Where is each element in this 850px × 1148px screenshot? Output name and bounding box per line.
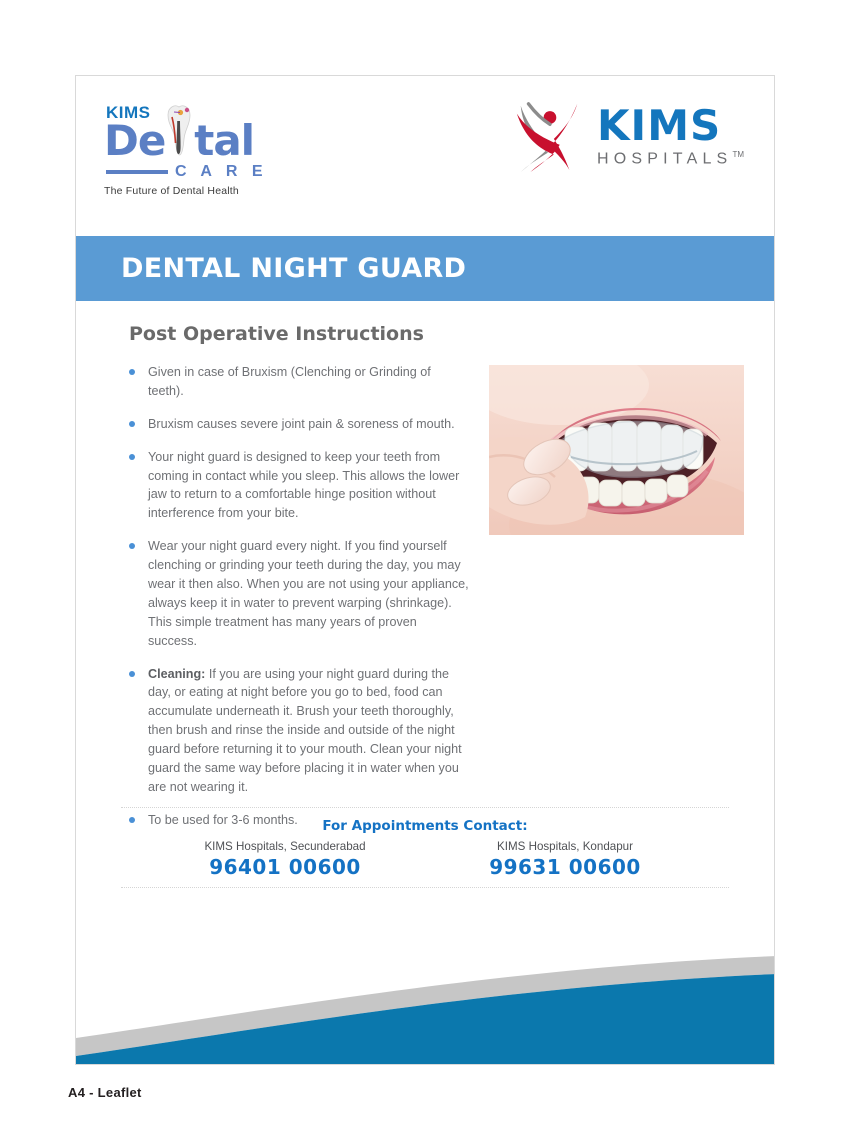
page-caption: A4 - Leaflet	[68, 1085, 142, 1100]
night-guard-photo-illustration	[489, 365, 744, 535]
dental-logo-tagline: The Future of Dental Health	[104, 185, 279, 197]
dental-logo-word-tal: tal	[194, 116, 254, 165]
contact-phone[interactable]: 96401 00600	[185, 855, 385, 879]
title-banner: DENTAL NIGHT GUARD	[76, 236, 774, 301]
list-item: Wear your night guard every night. If yo…	[121, 537, 469, 650]
dental-logo-rule	[106, 170, 168, 174]
header-band: KIMS Dental C A R E The Future of Dental…	[76, 76, 774, 236]
contact-divider-top	[121, 807, 729, 809]
contact-row: KIMS Hospitals, Secunderabad 96401 00600…	[121, 840, 729, 887]
dental-logo-word-de: De	[104, 116, 165, 165]
bottom-wave-graphic	[76, 934, 775, 1064]
list-item: Cleaning: If you are using your night gu…	[121, 665, 469, 797]
dental-logo-wordmark: Dental	[104, 122, 279, 160]
bullet-icon	[129, 543, 135, 549]
running-figure-icon	[509, 98, 587, 174]
tooth-icon	[164, 103, 194, 159]
bullet-icon	[129, 369, 135, 375]
section-heading: Post Operative Instructions	[129, 323, 744, 345]
content-area: Post Operative Instructions Given in cas…	[76, 301, 774, 844]
dental-logo-care-row: C A R E	[106, 163, 279, 181]
bullet-icon	[129, 671, 135, 677]
instructions-list: Given in case of Bruxism (Clenching or G…	[121, 363, 469, 830]
contact-name: KIMS Hospitals, Kondapur	[465, 840, 665, 853]
photo-column	[489, 365, 744, 535]
leaflet-page: KIMS Dental C A R E The Future of Dental…	[75, 75, 775, 1065]
kims-hospitals-logo: KIMS HOSPITALSTM	[509, 98, 744, 174]
contact-heading: For Appointments Contact:	[121, 818, 729, 834]
appointments-contact-block: For Appointments Contact: KIMS Hospitals…	[121, 807, 729, 889]
contact-secunderabad: KIMS Hospitals, Secunderabad 96401 00600	[185, 840, 385, 879]
list-item: Your night guard is designed to keep you…	[121, 448, 469, 524]
trademark-icon: TM	[732, 150, 744, 159]
hospitals-logo-text: KIMS HOSPITALSTM	[597, 105, 744, 167]
hospitals-logo-sub-text: HOSPITALS	[597, 150, 732, 167]
instructions-column: Given in case of Bruxism (Clenching or G…	[121, 363, 469, 844]
page-title: DENTAL NIGHT GUARD	[121, 253, 466, 284]
list-item-text: Bruxism causes severe joint pain & soren…	[148, 417, 455, 431]
list-item: Bruxism causes severe joint pain & soren…	[121, 415, 469, 434]
bullet-icon	[129, 421, 135, 427]
list-item-text: Given in case of Bruxism (Clenching or G…	[148, 365, 431, 398]
bullet-icon	[129, 454, 135, 460]
list-item-text: Wear your night guard every night. If yo…	[148, 539, 469, 647]
list-item-lead: Cleaning:	[148, 667, 205, 681]
content-columns: Given in case of Bruxism (Clenching or G…	[121, 363, 744, 844]
contact-divider-bottom	[121, 887, 729, 889]
contact-phone[interactable]: 99631 00600	[465, 855, 665, 879]
kims-dental-care-logo: KIMS Dental C A R E The Future of Dental…	[104, 104, 279, 197]
list-item: Given in case of Bruxism (Clenching or G…	[121, 363, 469, 401]
contact-kondapur: KIMS Hospitals, Kondapur 99631 00600	[465, 840, 665, 879]
list-item-text: Your night guard is designed to keep you…	[148, 450, 459, 521]
dental-logo-care-text: C A R E	[175, 163, 267, 181]
night-guard-photo	[489, 365, 744, 535]
hospitals-logo-kims: KIMS	[597, 105, 744, 147]
list-item-text: If you are using your night guard during…	[148, 667, 462, 794]
contact-name: KIMS Hospitals, Secunderabad	[185, 840, 385, 853]
hospitals-logo-sub: HOSPITALSTM	[597, 151, 744, 167]
